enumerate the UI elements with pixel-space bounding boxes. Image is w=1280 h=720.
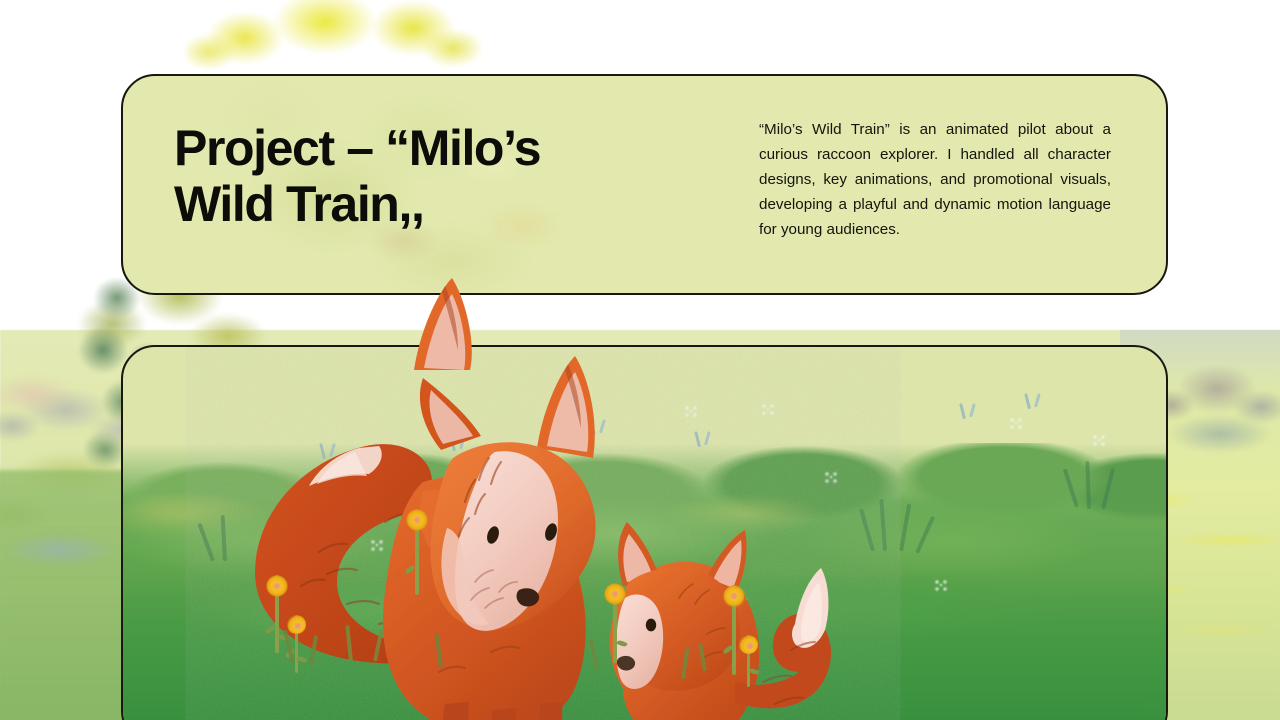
background-pink-wash <box>0 360 100 430</box>
project-description: “Milo’s Wild Train” is an animated pilot… <box>759 118 1111 243</box>
page-title: Project – “Milo’s Wild Train,, <box>174 120 694 232</box>
background-teal-wash <box>0 520 140 580</box>
illustration-scene <box>123 347 1166 720</box>
project-info-card: Project – “Milo’s Wild Train,, “Milo’s W… <box>121 74 1168 295</box>
background-distant-tree-right-icon <box>1155 345 1280 455</box>
slide-canvas: Project – “Milo’s Wild Train,, “Milo’s W… <box>0 0 1280 720</box>
info-card-content: Project – “Milo’s Wild Train,, “Milo’s W… <box>123 76 1166 293</box>
background-distant-tree-right-2-icon <box>1150 400 1280 470</box>
fox-illustration <box>123 347 1166 720</box>
background-yellow-canopy-icon <box>185 0 485 85</box>
project-image-card <box>121 345 1168 720</box>
